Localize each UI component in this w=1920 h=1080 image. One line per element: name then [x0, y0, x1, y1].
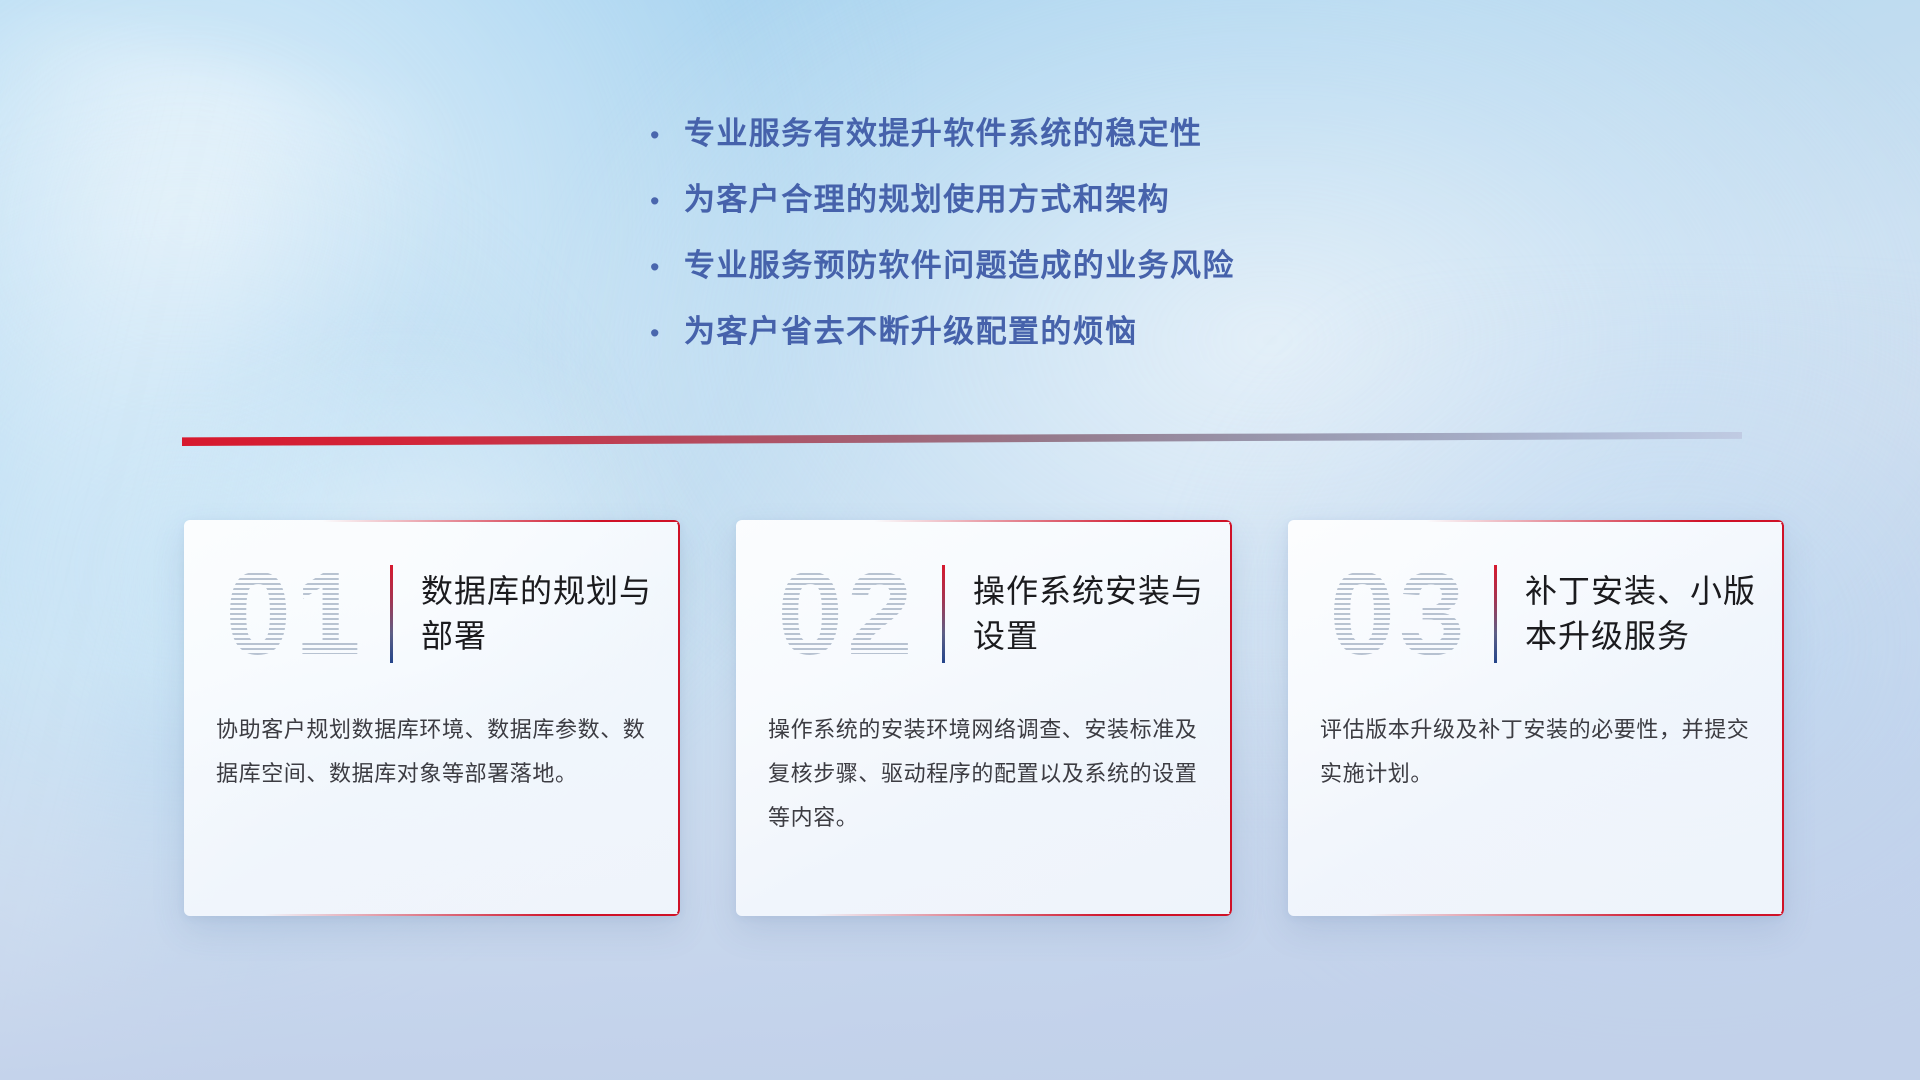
bullet-dot-icon: • [650, 122, 684, 149]
list-item: • 专业服务有效提升软件系统的稳定性 [650, 108, 1750, 174]
bullet-text: 为客户合理的规划使用方式和架构 [684, 174, 1170, 219]
card-number: 01 [206, 548, 384, 680]
card-title-divider [390, 565, 393, 663]
bullet-dot-icon: • [650, 254, 684, 281]
card-number: 02 [758, 548, 936, 680]
bullet-text: 专业服务有效提升软件系统的稳定性 [684, 108, 1202, 153]
card-body-text: 评估版本升级及补丁安装的必要性，并提交实施计划。 [1288, 708, 1784, 796]
card-title: 操作系统安装与设置 [973, 569, 1206, 659]
list-item: • 为客户合理的规划使用方式和架构 [650, 174, 1750, 240]
card-number-glyph: 01 [206, 548, 384, 680]
list-item: • 为客户省去不断升级配置的烦恼 [650, 306, 1750, 372]
divider-sheen [182, 432, 1742, 446]
bullet-text: 为客户省去不断升级配置的烦恼 [684, 306, 1138, 351]
bullet-dot-icon: • [650, 320, 684, 347]
service-card-03[interactable]: 03 补丁安装、小版本升级服务 评估版本升级及补丁安装的必要性，并提交实施计划。 [1288, 520, 1784, 916]
card-title-divider [942, 565, 945, 663]
card-number: 03 [1310, 548, 1488, 680]
card-header: 01 数据库的规划与部署 [184, 520, 680, 708]
bullet-text: 专业服务预防软件问题造成的业务风险 [684, 240, 1235, 285]
gradient-divider [182, 432, 1742, 446]
card-header: 03 补丁安装、小版本升级服务 [1288, 520, 1784, 708]
service-card-01[interactable]: 01 数据库的规划与部署 协助客户规划数据库环境、数据库参数、数据库空间、数据库… [184, 520, 680, 916]
bullet-dot-icon: • [650, 188, 684, 215]
card-body-text: 协助客户规划数据库环境、数据库参数、数据库空间、数据库对象等部署落地。 [184, 708, 680, 796]
list-item: • 专业服务预防软件问题造成的业务风险 [650, 240, 1750, 306]
service-card-02[interactable]: 02 操作系统安装与设置 操作系统的安装环境网络调查、安装标准及复核步骤、驱动程… [736, 520, 1232, 916]
card-body-text: 操作系统的安装环境网络调查、安装标准及复核步骤、驱动程序的配置以及系统的设置等内… [736, 708, 1232, 840]
card-title: 数据库的规划与部署 [421, 569, 654, 659]
card-title: 补丁安装、小版本升级服务 [1525, 569, 1758, 659]
benefits-bullet-list: • 专业服务有效提升软件系统的稳定性 • 为客户合理的规划使用方式和架构 • 专… [650, 108, 1750, 372]
card-number-glyph: 03 [1310, 548, 1488, 680]
card-header: 02 操作系统安装与设置 [736, 520, 1232, 708]
card-number-glyph: 02 [758, 548, 936, 680]
card-title-divider [1494, 565, 1497, 663]
service-card-list: 01 数据库的规划与部署 协助客户规划数据库环境、数据库参数、数据库空间、数据库… [184, 520, 1784, 916]
